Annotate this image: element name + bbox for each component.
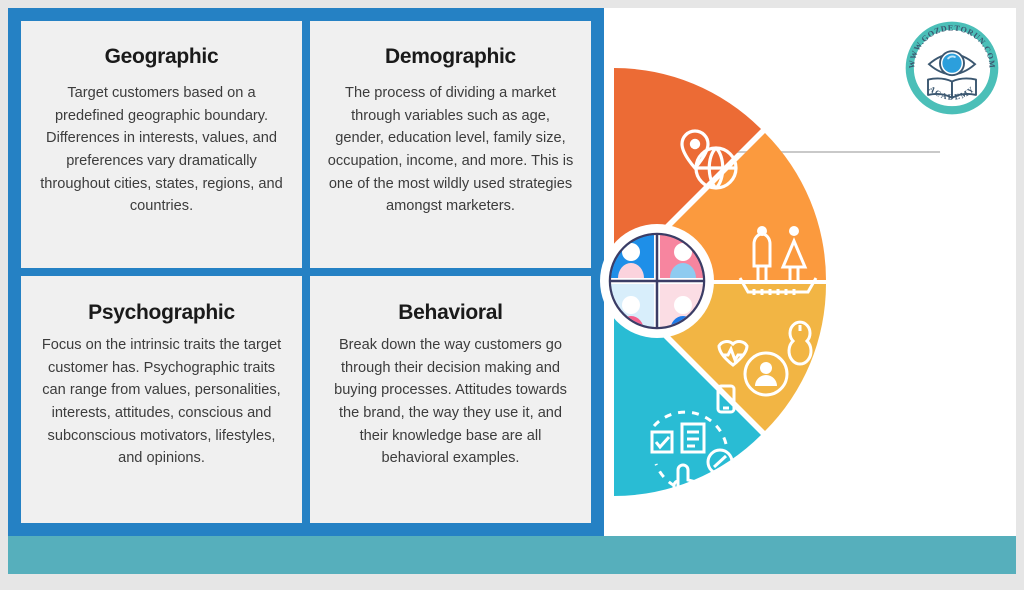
quadrant-card-psychographic[interactable]: Psychographic Focus on the intrinsic tra… <box>21 276 302 523</box>
quadrant-title-demographic: Demographic <box>385 45 516 68</box>
quadrant-body-demographic: The process of dividing a market through… <box>326 82 575 218</box>
bottom-teal-bar <box>8 536 1016 574</box>
quadrant-body-behavioral: Break down the way customers go through … <box>326 334 575 470</box>
quadrant-body-geographic: Target customers based on a predefined g… <box>37 82 286 218</box>
quadrant-card-demographic[interactable]: Demographic The process of dividing a ma… <box>310 21 591 268</box>
quadrant-title-psychographic: Psychographic <box>88 301 235 324</box>
quadrant-card-behavioral[interactable]: Behavioral Break down the way customers … <box>310 276 591 523</box>
quadrant-title-behavioral: Behavioral <box>398 301 502 324</box>
segmentation-fan-diagram <box>594 26 924 526</box>
quadrant-body-psychographic: Focus on the intrinsic traits the target… <box>37 334 286 470</box>
segmentation-quadrant-panel: Geographic Target customers based on a p… <box>8 8 604 536</box>
right-illustration-area: WWW.GOZDETORUN.COM ACADEMY <box>604 8 1016 536</box>
quadrant-card-geographic[interactable]: Geographic Target customers based on a p… <box>21 21 302 268</box>
quadrant-title-geographic: Geographic <box>105 45 219 68</box>
slide-canvas: Geographic Target customers based on a p… <box>8 8 1016 574</box>
